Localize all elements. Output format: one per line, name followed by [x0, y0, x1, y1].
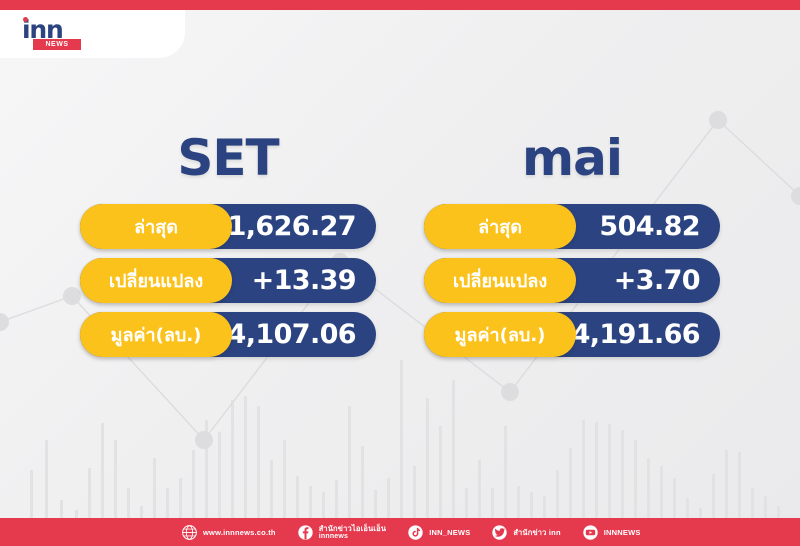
row-label: ล่าสุด [424, 204, 576, 249]
footer-label: INNNEWS [604, 528, 641, 537]
logo-news-badge: NEWS [33, 39, 81, 50]
infographic-canvas: inn NEWS SET 1,626.27 ล่าสุด +13.39 เปลี… [0, 0, 800, 546]
footer-item-facebook[interactable]: สำนักข่าวไอเอ็นเอ็น innnews [298, 524, 386, 541]
footer-item-website[interactable]: www.innnews.co.th [182, 525, 276, 540]
row-label: มูลค่า(ลบ.) [80, 312, 232, 357]
footer-label: www.innnews.co.th [203, 528, 276, 537]
index-row: 1,626.27 ล่าสุด [80, 204, 376, 249]
footer-label-main: สำนักข่าวไอเอ็นเอ็น [319, 524, 386, 533]
tiktok-icon [408, 525, 423, 540]
footer-label: INN_NEWS [429, 528, 470, 537]
twitter-icon [492, 525, 507, 540]
logo-card: inn NEWS [0, 10, 185, 58]
row-label: มูลค่า(ลบ.) [424, 312, 576, 357]
footer-item-youtube[interactable]: INNNEWS [583, 525, 641, 540]
index-rows-mai: 504.82 ล่าสุด +3.70 เปลี่ยนแปลง 4,191.66… [424, 204, 720, 366]
index-row: +3.70 เปลี่ยนแปลง [424, 258, 720, 303]
footer-label-main: www.innnews.co.th [203, 528, 276, 537]
logo-dot-icon [23, 17, 28, 22]
footer-label-main: INN_NEWS [429, 528, 470, 537]
globe-icon [182, 525, 197, 540]
footer-label-sub: innnews [319, 533, 386, 541]
index-row: 504.82 ล่าสุด [424, 204, 720, 249]
index-title-set: SET [177, 130, 278, 186]
inn-logo: inn NEWS [22, 17, 84, 51]
row-label: ล่าสุด [80, 204, 232, 249]
footer-item-twitter[interactable]: สำนักข่าว inn [492, 525, 560, 540]
footer-label: สำนักข่าว inn [513, 528, 560, 537]
indices-container: SET 1,626.27 ล่าสุด +13.39 เปลี่ยนแปลง 9… [0, 60, 800, 518]
row-label: เปลี่ยนแปลง [80, 258, 232, 303]
index-row: 4,191.66 มูลค่า(ลบ.) [424, 312, 720, 357]
index-block-mai: mai 504.82 ล่าสุด +3.70 เปลี่ยนแปลง 4,19… [424, 130, 720, 518]
index-rows-set: 1,626.27 ล่าสุด +13.39 เปลี่ยนแปลง 94,10… [80, 204, 376, 366]
footer-item-tiktok[interactable]: INN_NEWS [408, 525, 470, 540]
footer-label-main: INNNEWS [604, 528, 641, 537]
footer-label: สำนักข่าวไอเอ็นเอ็น innnews [319, 524, 386, 541]
facebook-icon [298, 525, 313, 540]
index-row: 94,107.06 มูลค่า(ลบ.) [80, 312, 376, 357]
index-row: +13.39 เปลี่ยนแปลง [80, 258, 376, 303]
index-block-set: SET 1,626.27 ล่าสุด +13.39 เปลี่ยนแปลง 9… [80, 130, 376, 518]
footer-label-main: สำนักข่าว inn [513, 528, 560, 537]
row-label: เปลี่ยนแปลง [424, 258, 576, 303]
index-title-mai: mai [522, 130, 622, 186]
youtube-icon [583, 525, 598, 540]
top-accent-bar [0, 0, 800, 10]
footer-bar: www.innnews.co.th สำนักข่าวไอเอ็นเอ็น in… [0, 518, 800, 546]
